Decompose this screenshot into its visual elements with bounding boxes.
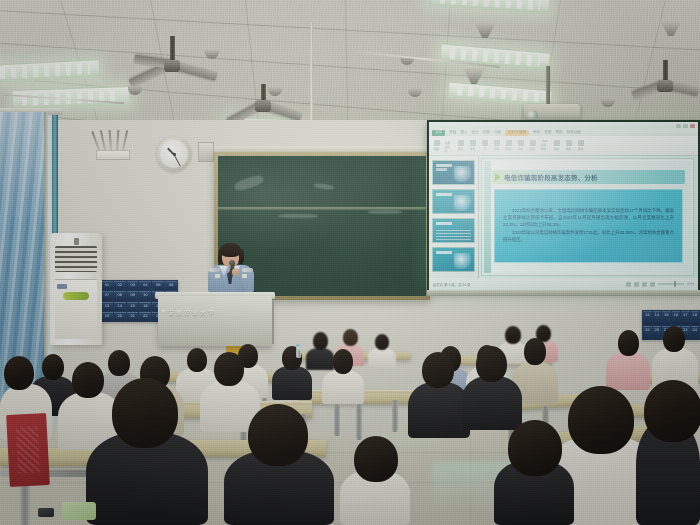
- student-head: [108, 350, 130, 376]
- ceiling: [0, 0, 700, 140]
- wall-clock: [157, 137, 191, 171]
- student-head: [214, 352, 244, 386]
- tab-review[interactable]: 审阅: [533, 130, 540, 135]
- ribbon-reset-icon[interactable]: 重置: [469, 140, 476, 151]
- student-head-foreground: [248, 404, 308, 466]
- tab-animations[interactable]: 动画: [494, 130, 501, 135]
- status-right-group[interactable]: 62%: [626, 282, 694, 287]
- ribbon-layout-icon[interactable]: 版式: [457, 140, 464, 151]
- ac-sensor-icon: [74, 238, 79, 245]
- ribbon-label: 节: [483, 147, 486, 151]
- slide-thumbnail-panel[interactable]: 1 2 3 4: [429, 156, 479, 278]
- tab-design[interactable]: 设计: [472, 130, 479, 135]
- ppt-status-bar: 幻灯片 第 3 张，共 24 张 62%: [429, 278, 698, 290]
- ribbon-label: 排列: [530, 147, 535, 151]
- thumbnail-artwork: [454, 166, 472, 182]
- wall-speaker-box: [198, 142, 214, 162]
- student-head: [333, 349, 353, 374]
- clock-center-pin: [173, 153, 176, 156]
- ribbon-label: 快速样式: [541, 143, 548, 151]
- chalk-smudge: [314, 183, 335, 191]
- university-emblem-icon: [160, 307, 167, 314]
- ribbon-paragraph-icon[interactable]: 段落: [505, 140, 512, 151]
- student-head-foreground: [508, 420, 562, 476]
- student-head: [476, 346, 507, 382]
- pocket-cell: 07: [101, 291, 113, 300]
- thumbnail-artwork: [454, 195, 472, 211]
- thumbnail-title-bar: [436, 193, 452, 196]
- student-body: [606, 352, 650, 390]
- screen-bottom-bezel: [427, 290, 700, 296]
- zoom-slider[interactable]: [658, 283, 684, 285]
- pocket-cell: 15: [662, 311, 671, 325]
- desk-frame: [356, 402, 362, 440]
- ac-brand-logo: [57, 284, 67, 289]
- ribbon-font-icon[interactable]: 字体: [493, 140, 500, 151]
- title-arrow-icon: [495, 173, 501, 181]
- fan-rod: [663, 60, 668, 82]
- student-body: [462, 376, 522, 430]
- current-slide[interactable]: 电信诈骗现阶段高发态势、分析 2022年综合整治以来，全国电信网络诈骗犯罪发案实…: [484, 161, 691, 273]
- ribbon-section-icon[interactable]: 节: [481, 140, 488, 151]
- tab-insert[interactable]: 插入: [460, 130, 467, 135]
- chalk-smudge: [368, 210, 402, 214]
- presenter-hair: [220, 243, 241, 257]
- bottle-cap-icon: [296, 344, 300, 347]
- projector-mount: [546, 66, 550, 106]
- pocket-cell: 03: [127, 281, 139, 290]
- ceiling-grid-lines: [0, 0, 700, 140]
- student-head: [524, 338, 546, 365]
- student-head: [313, 332, 328, 350]
- chalkboard-divider: [218, 207, 426, 210]
- pocket-cell: 04: [139, 281, 151, 290]
- thumbnail-title-bar: [436, 222, 452, 225]
- student-body: [408, 382, 470, 438]
- student-head: [375, 334, 389, 350]
- slide-thumbnail[interactable]: 2: [432, 189, 475, 214]
- pocket-cell: 01: [101, 281, 113, 290]
- thumbnail-artwork: [454, 253, 472, 269]
- ceiling-fan: [122, 36, 222, 86]
- wall-info-plate: [96, 150, 130, 160]
- desk-frame: [334, 402, 340, 436]
- student-head-foreground: [568, 386, 634, 454]
- air-conditioner: [50, 233, 102, 345]
- zoom-level: 62%: [687, 282, 694, 286]
- pocket-cell: 08: [114, 291, 126, 300]
- presenter-badge-left: [215, 274, 220, 278]
- slide-title: 电信诈骗现阶段高发态势、分析: [504, 172, 598, 182]
- slide-thumbnail[interactable]: 1: [432, 160, 475, 185]
- student-head-foreground: [112, 378, 178, 448]
- chalk-smudge: [278, 214, 318, 218]
- slide-thumbnail[interactable]: 3: [432, 218, 475, 243]
- student-body: [322, 370, 364, 404]
- ac-display-badge: [63, 292, 89, 300]
- microphone-head-icon: [229, 260, 235, 266]
- classroom-photo: 01 02 03 04 05 06 07 08 09 10 11 12 13 1…: [0, 0, 700, 525]
- slide-paragraph: 2023年碰公司电信网络诈骗案件发杈1731起，同比上升36.06%，涉案损失金…: [503, 230, 674, 244]
- pocket-cell: 09: [127, 291, 139, 300]
- pocket-cell: 02: [114, 281, 126, 290]
- student-head: [343, 329, 358, 346]
- tab-home[interactable]: 开始: [449, 130, 456, 135]
- ac-vent-grill: [55, 246, 97, 272]
- podium-university-name: 安徽农业大学: [168, 308, 216, 317]
- fan-hub: [657, 80, 673, 92]
- student-head: [187, 348, 207, 372]
- pocket-cell: 10: [139, 291, 151, 300]
- slide-editing-area[interactable]: 电信诈骗现阶段高发态势、分析 2022年综合整治以来，全国电信网络诈骗犯罪发案实…: [481, 158, 694, 276]
- reading-view-icon[interactable]: [642, 282, 647, 287]
- pocket-cell: 19: [643, 326, 652, 340]
- wall-pipe: [52, 115, 58, 237]
- pocket-cell: 21: [127, 312, 139, 321]
- pocket-cell: 17: [681, 311, 690, 325]
- tab-transitions[interactable]: 切换: [483, 130, 490, 135]
- slide-accent-bar: [484, 161, 491, 273]
- pocket-cell: 22: [139, 312, 151, 321]
- projection-screen: 文件 开始 插入 设计 切换 动画 幻灯片放映 审阅 视图 帮助 特色功能 粘贴…: [427, 120, 700, 292]
- pocket-cell: 14: [114, 302, 126, 311]
- ribbon-outline-icon[interactable]: 轮廓: [565, 140, 572, 151]
- ribbon-paste-icon[interactable]: 粘贴: [433, 140, 440, 151]
- fan-rod: [170, 36, 175, 62]
- ceiling-conduit: [310, 22, 313, 130]
- slide-body-textbox[interactable]: 2022年综合整治以来，全国电信网络诈骗犯罪发案实现连续17个月同比下降，最高立…: [494, 189, 683, 263]
- pocket-cell: 13: [101, 302, 113, 311]
- student-head: [663, 326, 685, 352]
- slide-title-band: 电信诈骗现阶段高发态势、分析: [492, 170, 685, 184]
- student-head-foreground: [644, 380, 700, 442]
- ribbon-shapes-icon[interactable]: 形状: [517, 140, 524, 151]
- ribbon-label: 粘贴: [434, 147, 439, 151]
- pocket-cell: 20: [114, 312, 126, 321]
- tab-help[interactable]: 帮助: [555, 130, 562, 135]
- slide-thumbnail[interactable]: 4: [432, 247, 475, 272]
- tab-slideshow[interactable]: 幻灯片放映: [505, 130, 529, 136]
- close-icon[interactable]: [690, 124, 695, 128]
- pocket-cell: 19: [101, 312, 113, 321]
- ppt-application-window[interactable]: 文件 开始 插入 设计 切换 动画 幻灯片放映 审阅 视图 帮助 特色功能 粘贴…: [429, 122, 698, 290]
- student-head: [505, 326, 521, 344]
- pocket-cell: 16: [672, 311, 681, 325]
- student-head: [618, 330, 639, 356]
- ppt-ribbon[interactable]: 粘贴 新建幻灯片 版式 重置 节 字体 段落 形状 排列 快速样式 填充 轮廓 …: [429, 136, 698, 156]
- desk-item-phone: [38, 508, 54, 517]
- tab-view[interactable]: 视图: [544, 130, 551, 135]
- student-head: [4, 356, 34, 390]
- ppt-title-bar: [429, 122, 698, 129]
- wall-antenna-icon: [96, 128, 130, 150]
- thumbnail-title-bar: [436, 164, 452, 167]
- normal-view-icon[interactable]: [626, 282, 631, 287]
- slideshow-icon[interactable]: [650, 282, 655, 287]
- desk-frame: [392, 400, 398, 432]
- ribbon-label: 形状: [518, 147, 523, 151]
- pocket-cell: 05: [152, 281, 164, 290]
- student-head: [42, 354, 64, 380]
- ribbon-find-icon[interactable]: 查找: [577, 140, 584, 151]
- lecture-podium: 安徽农业大学: [158, 296, 272, 346]
- student-head-foreground: [354, 436, 398, 482]
- presenter-epaulette: [242, 268, 253, 272]
- pocket-cell: 16: [139, 302, 151, 311]
- ribbon-label: 填充: [554, 147, 559, 151]
- ribbon-label: 字体: [494, 147, 499, 151]
- ribbon-label: 新建幻灯片: [445, 141, 452, 153]
- student-body: [306, 348, 334, 370]
- fan-hub: [255, 100, 271, 112]
- ribbon-quick-styles-icon[interactable]: 快速样式: [541, 140, 548, 151]
- tab-file[interactable]: 文件: [432, 130, 445, 136]
- thumbnail-title-bar: [436, 251, 452, 254]
- pocket-cell: 20: [653, 326, 662, 340]
- minimize-icon[interactable]: [676, 124, 681, 128]
- tab-special[interactable]: 特色功能: [567, 130, 581, 135]
- sorter-view-icon[interactable]: [634, 282, 639, 287]
- thumbnail-subtitle-bar: [436, 168, 447, 171]
- ribbon-label: 查找: [578, 147, 583, 151]
- student-body: [368, 348, 396, 368]
- thumbnail-text-lines: [436, 230, 471, 241]
- chalk-smudge: [233, 174, 265, 193]
- fan-hub: [164, 60, 180, 72]
- presenter-epaulette: [209, 268, 220, 272]
- ribbon-fill-icon[interactable]: 填充: [553, 140, 560, 151]
- presenter-hand: [232, 268, 239, 276]
- water-bottle: [296, 346, 301, 358]
- ribbon-label: 段落: [506, 147, 511, 151]
- ribbon-label: 轮廓: [566, 147, 571, 151]
- ribbon-label: 重置: [470, 147, 475, 151]
- slide-counter: 幻灯片 第 3 张，共 24 张: [433, 282, 471, 287]
- maximize-icon[interactable]: [683, 124, 688, 128]
- ceiling-fan: [620, 60, 700, 106]
- presenter-badge-right: [242, 274, 247, 278]
- pocket-cell: 15: [127, 302, 139, 311]
- ribbon-label: 版式: [458, 147, 463, 151]
- pocket-cell: 06: [165, 281, 177, 290]
- pocket-cell: 18: [691, 311, 700, 325]
- red-backpack: [6, 413, 50, 487]
- ribbon-new-slide-icon[interactable]: 新建幻灯片: [445, 140, 452, 151]
- slide-paragraph: 2022年综合整治以来，全国电信网络诈骗犯罪发案实现连续17个月同比下降，最高立…: [503, 208, 674, 228]
- ppt-ribbon-tabs[interactable]: 文件 开始 插入 设计 切换 动画 幻灯片放映 审阅 视图 帮助 特色功能: [429, 129, 698, 136]
- pocket-cell: 14: [653, 311, 662, 325]
- ribbon-arrange-icon[interactable]: 排列: [529, 140, 536, 151]
- student-head: [422, 352, 454, 388]
- pocket-cell: 13: [643, 311, 652, 325]
- student-body: [272, 366, 312, 400]
- pocket-cell: 24: [691, 326, 700, 340]
- desk-item-tissue-pack: [62, 502, 96, 520]
- zoom-slider-knob[interactable]: [674, 281, 676, 287]
- student-head: [72, 362, 104, 398]
